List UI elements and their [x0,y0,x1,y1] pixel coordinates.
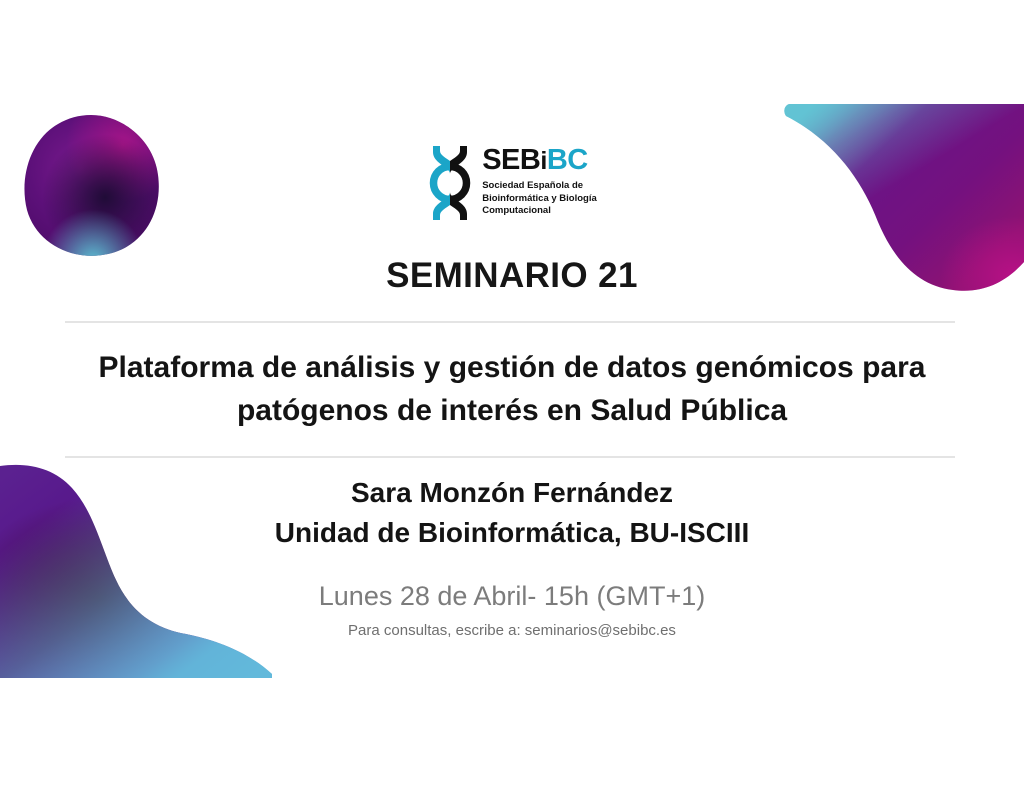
divider-below-talk-title [65,456,955,458]
speaker-name: Sara Monzón Fernández [0,473,1024,513]
seminar-number-heading: SEMINARIO 21 [0,256,1024,296]
seminar-datetime: Lunes 28 de Abril- 15h (GMT+1) [0,581,1024,612]
logo-tagline: Sociedad Española de Bioinformática y Bi… [482,180,597,218]
divider-above-talk-title [65,321,955,323]
logo-wordmark: SEBiBC [482,146,597,175]
sebibc-logo: SEBiBC Sociedad Española de Bioinformáti… [0,142,1024,220]
talk-title: Plataforma de análisis y gestión de dato… [70,347,954,432]
contact-line: Para consultas, escribe a: seminarios@se… [0,622,1024,639]
logo-wordmark-seb: SEB [482,144,540,176]
seminar-poster: SEBiBC Sociedad Española de Bioinformáti… [0,0,1024,800]
speaker-affiliation: Unidad de Bioinformática, BU-ISCIII [0,513,1024,553]
speaker-info: Sara Monzón Fernández Unidad de Bioinfor… [0,473,1024,553]
logo-wordmark-bc: BC [547,144,588,176]
sebibc-dna-helix-icon [427,146,473,220]
